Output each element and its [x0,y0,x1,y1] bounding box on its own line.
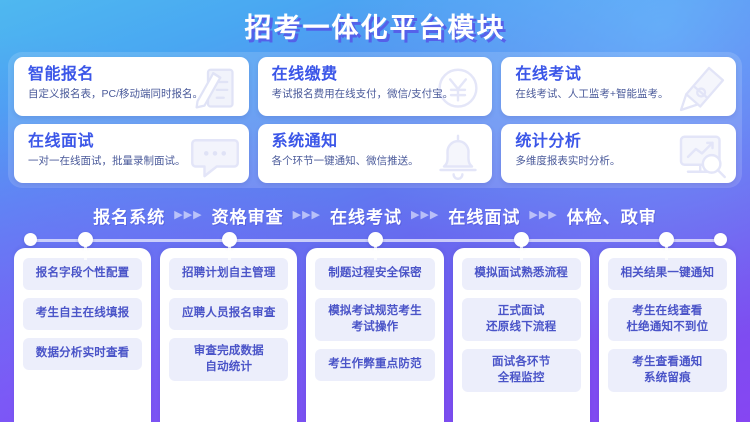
feature-card-title: 在线面试 [28,133,237,151]
feature-card-在线考试[interactable]: 在线考试 在线考试、人工监考+智能监考。 [501,57,736,116]
detail-item[interactable]: 相关结果一键通知 [608,258,727,290]
timeline-dot-1 [78,232,93,247]
feature-card-智能报名[interactable]: 智能报名 自定义报名表，PC/移动端同时报名。 [14,57,249,116]
detail-column-资格审查: 招聘计划自主管理 应聘人员报名审查 审查完成数据 自动统计 [160,248,297,422]
detail-item[interactable]: 应聘人员报名审查 [169,298,288,330]
timeline-dot-4 [514,232,529,247]
feature-card-在线面试[interactable]: 在线面试 一对一在线面试，批量录制面试。 [14,124,249,183]
flow-step-资格审查: 资格审查 [212,203,284,228]
timeline-dot-end [714,233,727,246]
feature-card-desc: 多维度报表实时分析。 [515,155,724,168]
flow-timeline [0,232,750,250]
detail-item[interactable]: 正式面试 还原线下流程 [462,298,581,341]
detail-item[interactable]: 报名字段个性配置 [23,258,142,290]
feature-card-在线缴费[interactable]: 在线缴费 考试报名费用在线支付，微信/支付宝。 [258,57,493,116]
detail-item[interactable]: 制题过程安全保密 [315,258,434,290]
feature-card-title: 在线缴费 [272,66,481,84]
feature-card-title: 智能报名 [28,66,237,84]
flow-arrow-icon: ▶▶▶ [529,210,557,221]
detail-item[interactable]: 面试各环节 全程监控 [462,349,581,392]
infographic-canvas: 招考一体化平台模块 智能报名 自定义报名表，PC/移动端同时报名。 [0,0,750,422]
feature-card-desc: 自定义报名表，PC/移动端同时报名。 [28,88,237,101]
timeline-dot-5 [659,232,674,247]
timeline-dot-2 [222,232,237,247]
detail-column-报名系统: 报名字段个性配置 考生自主在线填报 数据分析实时查看 [14,248,151,422]
detail-column-体检政审: 相关结果一键通知 考生在线查看 杜绝通知不到位 考生查看通知 系统留痕 [599,248,736,422]
timeline-stem-2 [228,246,231,260]
flow-step-报名系统: 报名系统 [93,203,165,228]
timeline-stem-3 [374,246,377,260]
detail-item[interactable]: 数据分析实时查看 [23,338,142,370]
feature-card-title: 在线考试 [515,66,724,84]
detail-item[interactable]: 模拟考试规范考生 考试操作 [315,298,434,341]
timeline-stem-4 [520,246,523,260]
page-title: 招考一体化平台模块 [245,6,506,45]
detail-item[interactable]: 考生查看通知 系统留痕 [608,349,727,392]
flow-arrow-icon: ▶▶▶ [293,210,321,221]
timeline-stem-5 [665,246,668,260]
flow-step-header: 报名系统 ▶▶▶ 资格审查 ▶▶▶ 在线考试 ▶▶▶ 在线面试 ▶▶▶ 体检、政… [0,198,750,232]
feature-card-title: 系统通知 [272,133,481,151]
flow-arrow-icon: ▶▶▶ [411,210,439,221]
timeline-dot-start [24,233,37,246]
detail-column-在线面试: 模拟面试熟悉流程 正式面试 还原线下流程 面试各环节 全程监控 [453,248,590,422]
detail-item[interactable]: 审查完成数据 自动统计 [169,338,288,381]
flow-step-在线面试: 在线面试 [448,203,520,228]
detail-item[interactable]: 考生在线查看 杜绝通知不到位 [608,298,727,341]
feature-card-统计分析[interactable]: 统计分析 多维度报表实时分析。 [501,124,736,183]
feature-card-title: 统计分析 [515,133,724,151]
flow-arrow-icon: ▶▶▶ [174,210,202,221]
detail-item[interactable]: 考生自主在线填报 [23,298,142,330]
feature-card-desc: 考试报名费用在线支付，微信/支付宝。 [272,88,481,101]
detail-item[interactable]: 模拟面试熟悉流程 [462,258,581,290]
detail-item[interactable]: 考生作弊重点防范 [315,349,434,381]
feature-card-grid: 智能报名 自定义报名表，PC/移动端同时报名。 在线缴费 考试报名费用在线支付，… [14,57,736,183]
flow-step-体检政审: 体检、政审 [567,203,657,228]
feature-card-desc: 各个环节一键通知、微信推送。 [272,155,481,168]
detail-column-在线考试: 制题过程安全保密 模拟考试规范考生 考试操作 考生作弊重点防范 [306,248,443,422]
timeline-dot-3 [368,232,383,247]
detail-column-grid: 报名字段个性配置 考生自主在线填报 数据分析实时查看 招聘计划自主管理 应聘人员… [14,248,736,422]
feature-card-desc: 在线考试、人工监考+智能监考。 [515,88,724,101]
feature-card-desc: 一对一在线面试，批量录制面试。 [28,155,237,168]
flow-step-在线考试: 在线考试 [330,203,402,228]
feature-card-系统通知[interactable]: 系统通知 各个环节一键通知、微信推送。 [258,124,493,183]
detail-item[interactable]: 招聘计划自主管理 [169,258,288,290]
timeline-stem-1 [84,246,87,260]
page-title-wrap: 招考一体化平台模块 [0,6,750,45]
